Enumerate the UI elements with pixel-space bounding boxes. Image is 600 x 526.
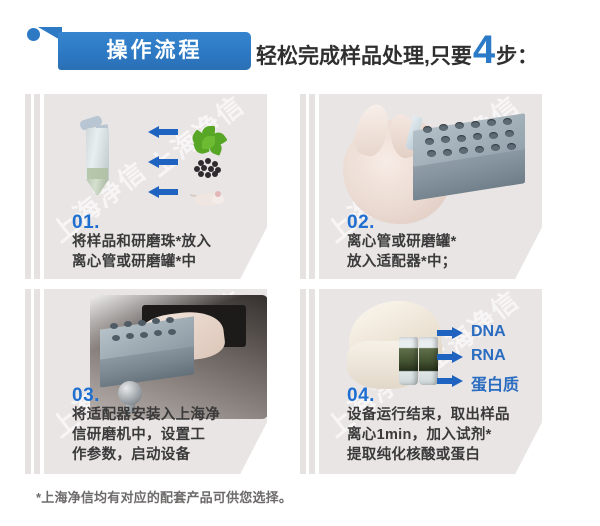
leaf-icon <box>190 126 228 154</box>
step-card-1: 上海净信 上海净信 <box>36 94 267 279</box>
step-card-4-body: 上海净信 上海净信 DNA RNA 蛋白质 04. 设备运行 <box>319 289 542 474</box>
section-banner: 操作流程 <box>38 27 251 70</box>
step-card-2-body: 上海净信 上海净信 02 <box>319 94 542 279</box>
step-card-2: 上海净信 上海净信 02 <box>311 94 542 279</box>
right-arrow-icon <box>437 351 463 363</box>
right-arrow-icon <box>437 327 463 339</box>
decorative-bar <box>25 94 31 279</box>
headline-step-count: 4 <box>473 30 495 70</box>
step-card-3: 上海净信 上海净信 03. 将适配器安装入上海净 信研磨机中，设置工 作参数，启… <box>36 289 267 474</box>
decorative-bar <box>300 289 306 474</box>
decorative-bar <box>34 94 40 279</box>
decorative-bar <box>309 94 315 279</box>
arrow-row-leaf <box>44 126 267 140</box>
step-card-3-body: 上海净信 上海净信 03. 将适配器安装入上海净 信研磨机中，设置工 作参数，启… <box>44 289 267 474</box>
decorative-bar <box>34 289 40 474</box>
left-arrow-icon <box>148 186 178 198</box>
step-4-text: 设备运行结束，取出样品 离心1min，加入试剂* 提取纯化核酸或蛋白 <box>347 405 510 465</box>
arrow-row-beads <box>44 156 267 170</box>
step-1-number: 01. <box>72 212 100 234</box>
step-card-1-body: 上海净信 上海净信 <box>44 94 267 279</box>
decorative-bar <box>25 289 31 474</box>
step-1-text: 将样品和研磨珠*放入 离心管或研磨罐*中 <box>72 232 211 272</box>
right-arrow-icon <box>437 375 463 387</box>
photo-hand-with-adapter <box>339 102 529 230</box>
output-label-protein: 蛋白质 <box>471 371 519 395</box>
photo-installing-adapter <box>90 295 268 419</box>
left-arrow-icon <box>148 126 178 138</box>
step-3-number: 03. <box>72 385 100 407</box>
arrow-row-mouse <box>44 186 267 200</box>
step-2-text: 离心管或研磨罐* 放入适配器*中； <box>347 232 457 272</box>
step-4-number: 04. <box>347 385 375 407</box>
step-card-4: 上海净信 上海净信 DNA RNA 蛋白质 04. 设备运行 <box>311 289 542 474</box>
headline-suffix: 步： <box>496 40 538 70</box>
decorative-bar <box>309 289 315 474</box>
decorative-bar <box>300 94 306 279</box>
page-header: 操作流程 轻松完成样品处理,只要 4 步： <box>0 0 600 88</box>
headline-prefix: 轻松完成样品处理,只要 <box>256 40 472 70</box>
left-arrow-icon <box>148 156 178 168</box>
grinding-beads-icon <box>190 156 228 184</box>
output-label-rna: RNA <box>471 347 506 365</box>
step-3-text: 将适配器安装入上海净 信研磨机中，设置工 作参数，启动设备 <box>72 405 220 465</box>
mouse-icon <box>190 186 228 214</box>
banner-label: 操作流程 <box>58 32 251 70</box>
step-2-number: 02. <box>347 212 375 234</box>
output-label-dna: DNA <box>471 323 506 341</box>
headline: 轻松完成样品处理,只要 4 步： <box>256 30 538 70</box>
footnote: *上海净信均有对应的配套产品可供您选择。 <box>36 487 292 506</box>
